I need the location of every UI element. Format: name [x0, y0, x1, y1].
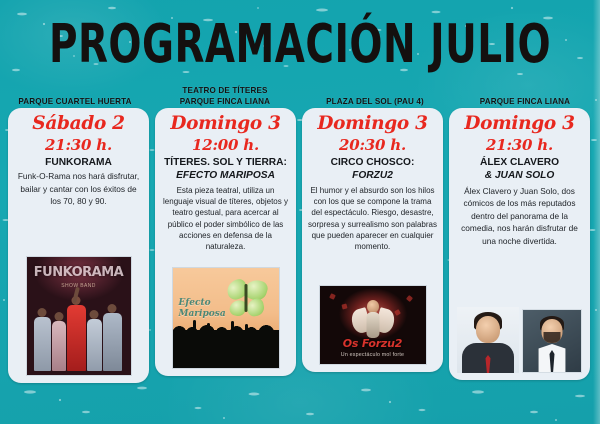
event-card-circo-chosco[interactable]: Domingo 3 20:30 h. CIRCO CHOSCO: FORZU2 …: [302, 108, 443, 372]
venue-header-1: PARQUE CUARTEL HUERTA: [0, 80, 150, 108]
event-card-funkorama[interactable]: Sábado 2 21:30 h. FUNKORAMA Funk-O-Rama …: [8, 108, 149, 383]
event-title: TÍTERES. SOL Y TIERRA:: [164, 157, 287, 169]
os-forzu2-tagline: Un espectáculo mol forte: [320, 352, 426, 358]
funkorama-band-photo: FUNKORAMA SHOW BAND: [26, 256, 132, 376]
event-title: FUNKORAMA: [45, 157, 112, 169]
band-member: [87, 319, 102, 371]
event-description: Esta pieza teatral, utiliza un lenguaje …: [161, 185, 290, 252]
event-subtitle: EFECTO MARIPOSA: [176, 170, 275, 183]
efecto-mariposa-poster: EfectoMariposa: [172, 267, 280, 369]
event-time: 12:00 h.: [192, 135, 259, 155]
event-subtitle: FORZU2: [352, 170, 393, 183]
venue-line: PARQUE CUARTEL HUERTA: [18, 97, 131, 108]
band-member-lead: [67, 305, 86, 371]
portrait-juan-solo: [522, 309, 582, 373]
event-time: 21:30 h.: [486, 135, 553, 155]
event-date: Domingo 3: [170, 113, 280, 135]
band-member: [34, 317, 51, 371]
event-date: Domingo 3: [464, 113, 574, 135]
event-card-efecto-mariposa[interactable]: Domingo 3 12:00 h. TÍTERES. SOL Y TIERRA…: [155, 108, 296, 376]
os-forzu2-poster: Os Forzu2 Un espectáculo mol forte: [319, 285, 427, 365]
event-card-alex-clavero[interactable]: Domingo 3 21:30 h. ÁLEX CLAVERO & JUAN S…: [449, 108, 590, 380]
comedians-duo-photo: [456, 307, 584, 373]
band-member: [52, 321, 66, 371]
event-description: Álex Clavero y Juan Solo, dos cómicos de…: [455, 185, 584, 247]
event-date: Domingo 3: [317, 113, 427, 135]
butterfly-icon: [225, 280, 267, 316]
acrobat-figure: [356, 300, 390, 340]
band-member: [103, 313, 122, 371]
efecto-mariposa-logo-text: EfectoMariposa: [179, 298, 226, 320]
event-description: Funk-O-Rama nos hará disfrutar, bailar y…: [14, 170, 143, 207]
poster-right-edge-highlight: [593, 0, 600, 424]
event-title: ÁLEX CLAVERO: [480, 157, 559, 169]
os-forzu2-logo-text: Os Forzu2: [320, 337, 426, 350]
event-time: 20:30 h.: [339, 135, 406, 155]
page-title: PROGRAMACIÓN JULIO: [15, 10, 585, 78]
portrait-alex-clavero: [457, 307, 519, 373]
venue-header-4: PARQUE FINCA LIANA: [450, 80, 600, 108]
venue-header-row: PARQUE CUARTEL HUERTA TEATRO DE TÍTERES …: [0, 80, 600, 108]
event-card-row: Sábado 2 21:30 h. FUNKORAMA Funk-O-Rama …: [8, 108, 592, 383]
venue-header-2: TEATRO DE TÍTERES PARQUE FINCA LIANA: [150, 80, 300, 108]
venue-line: PARQUE FINCA LIANA: [180, 97, 270, 108]
audience-silhouette: [173, 330, 279, 368]
event-subtitle: & JUAN SOLO: [485, 170, 555, 183]
venue-line: PARQUE FINCA LIANA: [480, 97, 570, 108]
venue-header-3: PLAZA DEL SOL (PAU 4): [300, 80, 450, 108]
event-title: CIRCO CHOSCO:: [331, 157, 415, 169]
event-description: El humor y el absurdo son los hilos con …: [308, 185, 437, 252]
event-date: Sábado 2: [32, 113, 124, 135]
venue-line: PLAZA DEL SOL (PAU 4): [326, 97, 424, 108]
poster-root: PROGRAMACIÓN JULIO PARQUE CUARTEL HUERTA…: [0, 0, 600, 424]
event-time: 21:30 h.: [45, 135, 112, 155]
funkorama-logo-text: FUNKORAMA: [27, 265, 131, 280]
venue-line: TEATRO DE TÍTERES: [182, 86, 267, 97]
